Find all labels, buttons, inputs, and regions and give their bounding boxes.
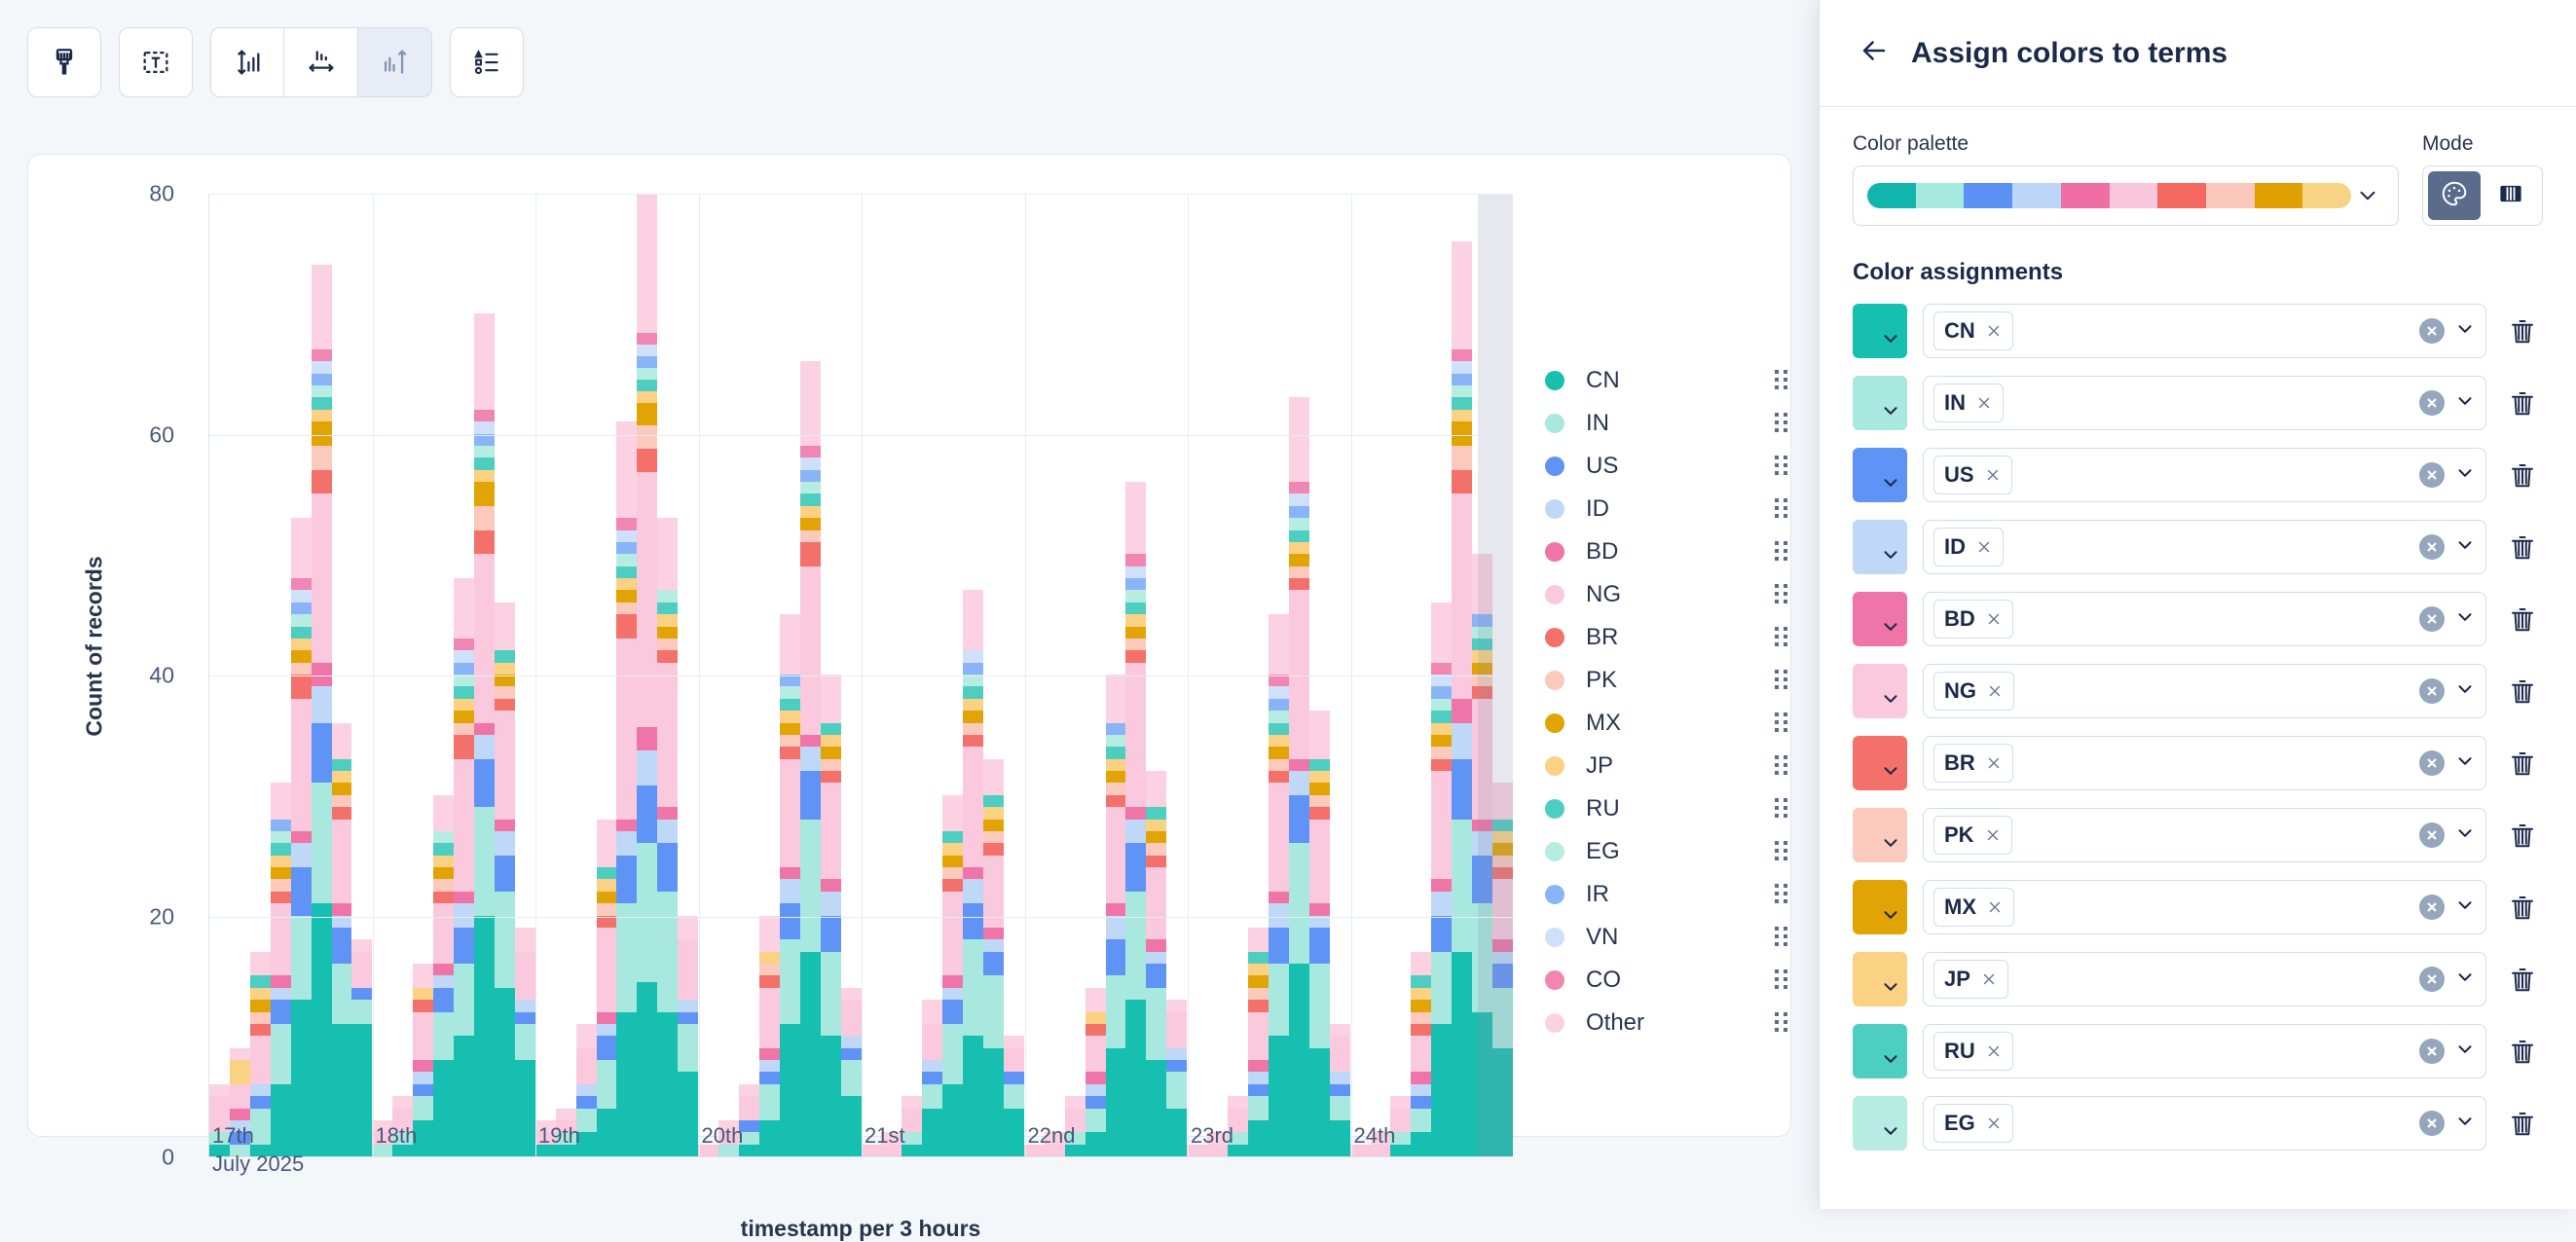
bar-segment[interactable] <box>759 988 780 1048</box>
vertical-axis-button[interactable] <box>210 27 284 97</box>
bar-segment[interactable] <box>1125 614 1146 626</box>
bar-segment[interactable] <box>1431 759 1452 771</box>
bar-segment[interactable] <box>454 711 474 722</box>
close-icon[interactable] <box>1980 970 1998 988</box>
bar-segment[interactable] <box>1309 795 1330 807</box>
bar-segment[interactable] <box>597 928 617 1012</box>
bar-segment[interactable] <box>454 903 474 928</box>
bar-segment[interactable] <box>1269 928 1289 964</box>
bar-segment[interactable] <box>821 1036 841 1156</box>
bar-segment[interactable] <box>454 759 474 892</box>
bar-segment[interactable] <box>821 916 841 952</box>
bar-segment[interactable] <box>1411 952 1431 976</box>
bar-segment[interactable] <box>1431 735 1452 747</box>
bar-segment[interactable] <box>800 771 821 820</box>
bar-segment[interactable] <box>963 735 983 747</box>
delete-assignment-button[interactable] <box>2502 965 2543 994</box>
bar-segment[interactable] <box>1166 1000 1187 1011</box>
bar-segment[interactable] <box>1106 807 1126 903</box>
bar-segment[interactable] <box>433 856 454 867</box>
legend-item[interactable]: BR <box>1545 616 1788 659</box>
bar-segment[interactable] <box>1146 843 1166 855</box>
bar-segment[interactable] <box>332 903 352 915</box>
clear-terms-button[interactable] <box>2419 462 2445 488</box>
bar-segment[interactable] <box>351 1024 372 1156</box>
bar-segment[interactable] <box>942 1024 963 1084</box>
bar-segment[interactable] <box>597 903 617 915</box>
bar-segment[interactable] <box>841 1036 862 1047</box>
bar-segment[interactable] <box>454 723 474 735</box>
bar-segment[interactable] <box>351 988 372 1000</box>
palette-select[interactable] <box>1853 165 2399 226</box>
bar-segment[interactable] <box>291 518 312 578</box>
bar-segment[interactable] <box>1248 928 1269 952</box>
bar-segment[interactable] <box>841 988 862 1000</box>
legend-item[interactable]: IN <box>1545 402 1788 445</box>
bar-segment[interactable] <box>250 1084 271 1096</box>
term-pill[interactable]: PK <box>1933 816 2012 855</box>
bar-segment[interactable] <box>759 1084 780 1120</box>
delete-assignment-button[interactable] <box>2502 388 2543 418</box>
bar-segment[interactable] <box>291 639 312 650</box>
bar-segment[interactable] <box>1004 1048 1024 1073</box>
bar-segment[interactable] <box>780 759 800 867</box>
bar-segment[interactable] <box>616 614 637 639</box>
assignment-color-swatch[interactable] <box>1853 376 1907 430</box>
bar-segment[interactable] <box>1004 1084 1024 1109</box>
bar-segment[interactable] <box>291 675 312 699</box>
bar-segment[interactable] <box>759 1120 780 1156</box>
bar-segment[interactable] <box>800 820 821 952</box>
bar-segment[interactable] <box>821 735 841 747</box>
bar-segment[interactable] <box>1146 856 1166 867</box>
bar-segment[interactable] <box>474 554 495 722</box>
bar-segment[interactable] <box>271 1024 291 1084</box>
bar-segment[interactable] <box>1004 1036 1024 1047</box>
bar-segment[interactable] <box>759 1048 780 1060</box>
clear-terms-button[interactable] <box>2419 390 2445 416</box>
assignment-terms-combobox[interactable]: PK <box>1923 808 2486 862</box>
bar-segment[interactable] <box>413 1060 433 1072</box>
bar-segment[interactable] <box>821 771 841 783</box>
bar-segment[interactable] <box>1125 603 1146 614</box>
chevron-down-icon[interactable] <box>2454 750 2476 777</box>
bar-segment[interactable] <box>922 1000 942 1024</box>
bar-segment[interactable] <box>1411 1096 1431 1108</box>
bar-segment[interactable] <box>1289 482 1309 493</box>
bar-segment[interactable] <box>1106 1048 1126 1156</box>
bar-segment[interactable] <box>1106 723 1126 735</box>
chevron-down-icon[interactable] <box>2454 462 2476 489</box>
bar-segment[interactable] <box>1248 1060 1269 1072</box>
bar-segment[interactable] <box>800 952 821 1156</box>
bar-segment[interactable] <box>413 1096 433 1120</box>
bar-segment[interactable] <box>1309 903 1330 915</box>
horizontal-axis-button[interactable] <box>284 27 358 97</box>
bar-segment[interactable] <box>759 964 780 975</box>
bar-segment[interactable] <box>515 1024 535 1060</box>
bar-segment[interactable] <box>983 952 1004 976</box>
bar-segment[interactable] <box>474 530 495 555</box>
bar-segment[interactable] <box>616 542 637 554</box>
bar-segment[interactable] <box>1269 1036 1289 1156</box>
bar-segment[interactable] <box>1411 1036 1431 1072</box>
bar-segment[interactable] <box>312 446 332 470</box>
bar-segment[interactable] <box>413 964 433 988</box>
bar-segment[interactable] <box>1330 1036 1350 1072</box>
close-icon[interactable] <box>1986 682 2004 700</box>
bar-segment[interactable] <box>1248 975 1269 987</box>
bar-segment[interactable] <box>800 735 821 747</box>
drag-handle-icon[interactable] <box>1775 969 1788 991</box>
bar-segment[interactable] <box>678 1072 698 1156</box>
bar-segment[interactable] <box>942 795 963 831</box>
bar-segment[interactable] <box>1431 1024 1452 1156</box>
bar-segment[interactable] <box>474 506 495 530</box>
bar-segment[interactable] <box>1330 1120 1350 1156</box>
bar-segment[interactable] <box>821 723 841 735</box>
drag-handle-icon[interactable] <box>1775 670 1788 691</box>
bar-segment[interactable] <box>1452 385 1472 397</box>
bar-segment[interactable] <box>474 313 495 410</box>
bar-segment[interactable] <box>291 663 312 675</box>
legend-item[interactable]: PK <box>1545 659 1788 702</box>
bar-segment[interactable] <box>1390 1096 1411 1108</box>
bar-segment[interactable] <box>1086 1132 1106 1156</box>
bar-segment[interactable] <box>1289 771 1309 795</box>
bar-segment[interactable] <box>230 1060 250 1084</box>
bar-segment[interactable] <box>433 975 454 987</box>
assignment-color-swatch[interactable] <box>1853 808 1907 862</box>
term-pill[interactable]: NG <box>1933 672 2014 711</box>
bar-segment[interactable] <box>271 1000 291 1024</box>
bar-segment[interactable] <box>1452 699 1472 723</box>
bar-segment[interactable] <box>1106 675 1126 723</box>
bar-segment[interactable] <box>821 879 841 891</box>
bar-segment[interactable] <box>1452 493 1472 698</box>
bar-segment[interactable] <box>433 795 454 831</box>
bar-segment[interactable] <box>983 928 1004 939</box>
bar-segment[interactable] <box>800 506 821 518</box>
assignment-terms-combobox[interactable]: ID <box>1923 520 2486 574</box>
bar-segment[interactable] <box>963 747 983 867</box>
bar-segment[interactable] <box>616 578 637 590</box>
bar-segment[interactable] <box>495 831 515 856</box>
bar-segment[interactable] <box>800 470 821 482</box>
bar-segment[interactable] <box>1289 964 1309 1156</box>
bar-segment[interactable] <box>1289 493 1309 505</box>
bar-segment[interactable] <box>1452 723 1472 759</box>
drag-handle-icon[interactable] <box>1775 798 1788 820</box>
bar-segment[interactable] <box>963 903 983 939</box>
term-pill[interactable]: BR <box>1933 744 2013 783</box>
bar-segment[interactable] <box>1125 663 1146 808</box>
assignment-terms-combobox[interactable]: US <box>1923 448 2486 502</box>
delete-assignment-button[interactable] <box>2502 676 2543 706</box>
term-pill[interactable]: IN <box>1933 384 2004 422</box>
bar-segment[interactable] <box>1289 518 1309 530</box>
assignment-color-swatch[interactable] <box>1853 952 1907 1006</box>
term-pill[interactable]: MX <box>1933 888 2014 927</box>
bar-segment[interactable] <box>759 1072 780 1083</box>
bar-segment[interactable] <box>1146 952 1166 964</box>
bar-segment[interactable] <box>312 903 332 1156</box>
bar-segment[interactable] <box>1086 1084 1106 1096</box>
bar-segment[interactable] <box>800 457 821 469</box>
bar-segment[interactable] <box>637 425 657 449</box>
bar-segment[interactable] <box>1411 975 1431 987</box>
legend-item[interactable]: RU <box>1545 787 1788 830</box>
clear-terms-button[interactable] <box>2419 1039 2445 1064</box>
bar-segment[interactable] <box>1452 820 1472 952</box>
bar-segment[interactable] <box>983 843 1004 855</box>
bar-segment[interactable] <box>942 975 963 987</box>
bar-segment[interactable] <box>1086 1024 1106 1036</box>
bar-segment[interactable] <box>780 879 800 903</box>
bar-segment[interactable] <box>454 663 474 675</box>
bar-segment[interactable] <box>1106 771 1126 783</box>
bar-segment[interactable] <box>1309 820 1330 904</box>
bar-segment[interactable] <box>433 843 454 855</box>
bar-segment[interactable] <box>657 820 678 844</box>
bar-segment[interactable] <box>413 1000 433 1011</box>
bar-segment[interactable] <box>1248 1072 1269 1083</box>
bar-segment[interactable] <box>1289 554 1309 566</box>
gradient-mode-button[interactable] <box>2484 171 2537 220</box>
bar-segment[interactable] <box>454 639 474 650</box>
bar-segment[interactable] <box>433 988 454 1012</box>
bar-segment[interactable] <box>1269 614 1289 675</box>
bar-segment[interactable] <box>1248 1120 1269 1156</box>
bar-segment[interactable] <box>1289 530 1309 542</box>
bar-segment[interactable] <box>597 1012 617 1024</box>
bar-segment[interactable] <box>1452 361 1472 373</box>
bar-segment[interactable] <box>1431 879 1452 891</box>
brush-button[interactable] <box>27 27 101 97</box>
bar-segment[interactable] <box>576 1024 597 1048</box>
bar-segment[interactable] <box>983 807 1004 819</box>
legend-item[interactable]: JP <box>1545 745 1788 787</box>
chevron-down-icon[interactable] <box>2454 967 2476 993</box>
bar-segment[interactable] <box>821 952 841 1037</box>
bar-segment[interactable] <box>963 1036 983 1156</box>
bar-segment[interactable] <box>1289 590 1309 758</box>
bar-segment[interactable] <box>454 964 474 1036</box>
bar-segment[interactable] <box>1248 1084 1269 1096</box>
bar-segment[interactable] <box>1086 1072 1106 1083</box>
bar-segment[interactable] <box>637 727 657 750</box>
bar-segment[interactable] <box>312 374 332 385</box>
bar-segment[interactable] <box>1106 759 1126 771</box>
bar-segment[interactable] <box>1065 1096 1086 1108</box>
bar-segment[interactable] <box>1330 1096 1350 1120</box>
bar-segment[interactable] <box>800 542 821 566</box>
bar-segment[interactable] <box>983 1048 1004 1156</box>
bar-segment[interactable] <box>312 493 332 662</box>
bar-segment[interactable] <box>351 939 372 951</box>
delete-assignment-button[interactable] <box>2502 749 2543 778</box>
drag-handle-icon[interactable] <box>1775 498 1788 520</box>
bar-segment[interactable] <box>1125 1000 1146 1156</box>
bar-segment[interactable] <box>1086 1109 1106 1133</box>
drag-handle-icon[interactable] <box>1775 627 1788 648</box>
bar-segment[interactable] <box>963 686 983 698</box>
drag-handle-icon[interactable] <box>1775 413 1788 434</box>
bar-segment[interactable] <box>1106 795 1126 807</box>
bar-segment[interactable] <box>515 928 535 952</box>
bar-segment[interactable] <box>1106 939 1126 975</box>
bar-segment[interactable] <box>963 723 983 735</box>
chevron-down-icon[interactable] <box>2454 1111 2476 1137</box>
bar-segment[interactable] <box>616 603 637 614</box>
bar-segment[interactable] <box>942 988 963 1000</box>
bar-segment[interactable] <box>495 603 515 651</box>
bar-segment[interactable] <box>942 831 963 843</box>
bar-segment[interactable] <box>1086 1036 1106 1072</box>
bar-segment[interactable] <box>1431 892 1452 916</box>
bar-segment[interactable] <box>678 1000 698 1011</box>
bar-segment[interactable] <box>1146 867 1166 939</box>
bar-segment[interactable] <box>515 1060 535 1156</box>
bar-segment[interactable] <box>963 867 983 879</box>
bar-segment[interactable] <box>433 879 454 891</box>
close-icon[interactable] <box>1975 538 1993 556</box>
bar-segment[interactable] <box>657 603 678 614</box>
bar-segment[interactable] <box>271 831 291 843</box>
bar-segment[interactable] <box>983 759 1004 795</box>
bar-segment[interactable] <box>821 747 841 758</box>
delete-assignment-button[interactable] <box>2502 460 2543 490</box>
bar-segment[interactable] <box>1411 1000 1431 1011</box>
legend-item[interactable]: VN <box>1545 916 1788 959</box>
bar-segment[interactable] <box>780 614 800 675</box>
legend-item[interactable]: EG <box>1545 830 1788 873</box>
bar-segment[interactable] <box>576 1048 597 1084</box>
bar-segment[interactable] <box>637 333 657 345</box>
bar-segment[interactable] <box>1166 1072 1187 1108</box>
bar-segment[interactable] <box>637 356 657 368</box>
drag-handle-icon[interactable] <box>1775 755 1788 777</box>
bar-segment[interactable] <box>841 1096 862 1156</box>
palette-mode-button[interactable] <box>2428 171 2481 220</box>
legend-options-button[interactable] <box>450 27 524 97</box>
bar-segment[interactable] <box>616 820 637 831</box>
bar-segment[interactable] <box>1248 952 1269 964</box>
bar-segment[interactable] <box>759 916 780 952</box>
bar-segment[interactable] <box>637 785 657 844</box>
bar-segment[interactable] <box>291 843 312 867</box>
bar-segment[interactable] <box>780 735 800 747</box>
delete-assignment-button[interactable] <box>2502 604 2543 634</box>
bar-segment[interactable] <box>1269 964 1289 1036</box>
assignment-terms-combobox[interactable]: NG <box>1923 664 2486 718</box>
bar-segment[interactable] <box>291 831 312 843</box>
bar-segment[interactable] <box>1452 397 1472 409</box>
close-icon[interactable] <box>1985 754 2003 772</box>
bar-segment[interactable] <box>1431 686 1452 698</box>
bar-segment[interactable] <box>657 639 678 650</box>
bar-segment[interactable] <box>1125 566 1146 578</box>
bar-segment[interactable] <box>1269 759 1289 771</box>
bar-segment[interactable] <box>1248 1000 1269 1011</box>
bar-segment[interactable] <box>1125 843 1146 892</box>
bar-segment[interactable] <box>1146 831 1166 843</box>
bar-segment[interactable] <box>1248 1096 1269 1120</box>
bar-segment[interactable] <box>1248 964 1269 975</box>
chevron-down-icon[interactable] <box>2454 606 2476 633</box>
bar-segment[interactable] <box>495 686 515 698</box>
bar-segment[interactable] <box>454 650 474 662</box>
bar-segment[interactable] <box>1166 1012 1187 1048</box>
bar-segment[interactable] <box>1431 771 1452 879</box>
bar-segment[interactable] <box>312 410 332 421</box>
bar-segment[interactable] <box>637 982 657 1156</box>
bar-segment[interactable] <box>922 1072 942 1083</box>
bar-segment[interactable] <box>1269 699 1289 711</box>
term-pill[interactable]: CN <box>1933 311 2013 350</box>
bar-segment[interactable] <box>678 916 698 940</box>
bar-segment[interactable] <box>657 892 678 1012</box>
bar-segment[interactable] <box>576 1096 597 1108</box>
bar-segment[interactable] <box>1289 566 1309 578</box>
bar-segment[interactable] <box>1309 771 1330 783</box>
term-pill[interactable]: RU <box>1933 1032 2013 1071</box>
bar-segment[interactable] <box>454 578 474 639</box>
bar-segment[interactable] <box>657 650 678 662</box>
assignment-color-swatch[interactable] <box>1853 664 1907 718</box>
bar-segment[interactable] <box>250 1036 271 1084</box>
clear-terms-button[interactable] <box>2419 318 2445 344</box>
bar-segment[interactable] <box>1431 699 1452 711</box>
assignment-color-swatch[interactable] <box>1853 592 1907 646</box>
bar-segment[interactable] <box>800 518 821 530</box>
bar-segment[interactable] <box>1269 747 1289 758</box>
bar-segment[interactable] <box>312 265 332 349</box>
bar-segment[interactable] <box>597 879 617 891</box>
bar-segment[interactable] <box>474 457 495 469</box>
bar-segment[interactable] <box>1309 783 1330 794</box>
bar-segment[interactable] <box>1289 795 1309 844</box>
bar-segment[interactable] <box>454 699 474 711</box>
legend-item[interactable]: IR <box>1545 873 1788 916</box>
term-pill[interactable]: ID <box>1933 528 2004 566</box>
bar-segment[interactable] <box>413 1084 433 1096</box>
bar-segment[interactable] <box>1452 349 1472 361</box>
close-icon[interactable] <box>1986 898 2004 916</box>
drag-handle-icon[interactable] <box>1775 541 1788 563</box>
clear-terms-button[interactable] <box>2419 822 2445 848</box>
bar-segment[interactable] <box>291 650 312 662</box>
bar-segment[interactable] <box>1125 639 1146 650</box>
bar-segment[interactable] <box>597 1060 617 1109</box>
bar-segment[interactable] <box>474 482 495 506</box>
bar-segment[interactable] <box>1309 964 1330 1048</box>
delete-assignment-button[interactable] <box>2502 316 2543 346</box>
bar-segment[interactable] <box>1309 759 1330 771</box>
bar-segment[interactable] <box>1146 1060 1166 1156</box>
bar-segment[interactable] <box>963 711 983 722</box>
drag-handle-icon[interactable] <box>1775 927 1788 948</box>
term-pill[interactable]: US <box>1933 456 2012 494</box>
bar-segment[interactable] <box>271 820 291 831</box>
clear-terms-button[interactable] <box>2419 1111 2445 1136</box>
bar-segment[interactable] <box>780 939 800 1024</box>
bar-segment[interactable] <box>800 482 821 493</box>
close-icon[interactable] <box>1985 610 2003 628</box>
assignment-color-swatch[interactable] <box>1853 448 1907 502</box>
bar-segment[interactable] <box>616 421 637 518</box>
color-axis-button[interactable] <box>358 27 432 97</box>
